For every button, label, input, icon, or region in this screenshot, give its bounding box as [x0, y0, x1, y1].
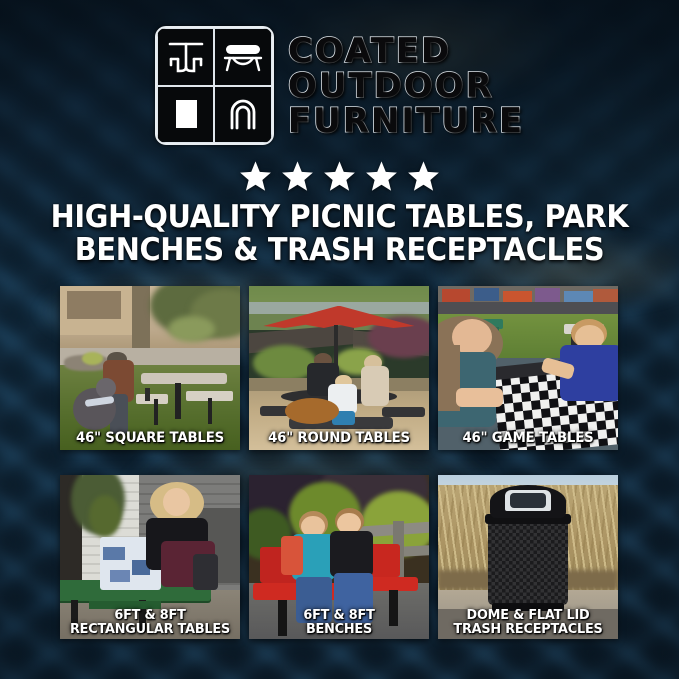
- headline: HIGH-QUALITY PICNIC TABLES, PARK BENCHES…: [24, 201, 655, 268]
- star-icon: [365, 160, 398, 193]
- headline-line-2: BENCHES & TRASH RECEPTACLES: [24, 234, 655, 267]
- advertisement-banner: COATED OUTDOOR FURNITURE HIGH-QUALITY PI…: [0, 0, 679, 679]
- product-tile-benches[interactable]: 6FT & 8FT BENCHES: [249, 475, 429, 639]
- star-icon: [407, 160, 440, 193]
- park-bench-icon: [214, 28, 272, 86]
- square-tables-photo: [60, 286, 240, 450]
- wordmark-line-2: OUTDOOR: [288, 69, 524, 103]
- tile-caption: DOME & FLAT LID TRASH RECEPTACLES: [443, 608, 614, 636]
- trash-receptacle-icon: [157, 86, 215, 144]
- tile-caption: 46" GAME TABLES: [443, 431, 614, 446]
- product-tile-game-tables[interactable]: 46" GAME TABLES: [438, 286, 618, 450]
- tile-caption: 6FT & 8FT BENCHES: [254, 608, 425, 636]
- star-icon: [323, 160, 356, 193]
- star-icon: [239, 160, 272, 193]
- furniture-grid-icon: [155, 26, 274, 145]
- wordmark-line-1: COATED: [288, 34, 524, 68]
- product-tile-square-tables[interactable]: 46" SQUARE TABLES: [60, 286, 240, 450]
- product-tile-rectangular-tables[interactable]: 6FT & 8FT RECTANGULAR TABLES: [60, 475, 240, 639]
- wordmark-line-3: FURNITURE: [288, 104, 524, 138]
- bike-rack-icon: [214, 86, 272, 144]
- brand-logo: COATED OUTDOOR FURNITURE: [0, 26, 679, 145]
- tile-caption: 46" ROUND TABLES: [254, 431, 425, 446]
- brand-wordmark: COATED OUTDOOR FURNITURE: [288, 34, 524, 138]
- tile-caption: 6FT & 8FT RECTANGULAR TABLES: [65, 608, 236, 636]
- round-tables-photo: [249, 286, 429, 450]
- product-tile-round-tables[interactable]: 46" ROUND TABLES: [249, 286, 429, 450]
- picnic-table-icon: [157, 28, 215, 86]
- tile-caption: 46" SQUARE TABLES: [65, 431, 236, 446]
- headline-line-1: HIGH-QUALITY PICNIC TABLES, PARK: [24, 201, 655, 234]
- star-icon: [281, 160, 314, 193]
- star-rating: [0, 160, 679, 193]
- product-category-grid: 46" SQUARE TABLES: [60, 286, 619, 639]
- game-tables-photo: [438, 286, 618, 450]
- product-tile-trash-receptacles[interactable]: DOME & FLAT LID TRASH RECEPTACLES: [438, 475, 618, 639]
